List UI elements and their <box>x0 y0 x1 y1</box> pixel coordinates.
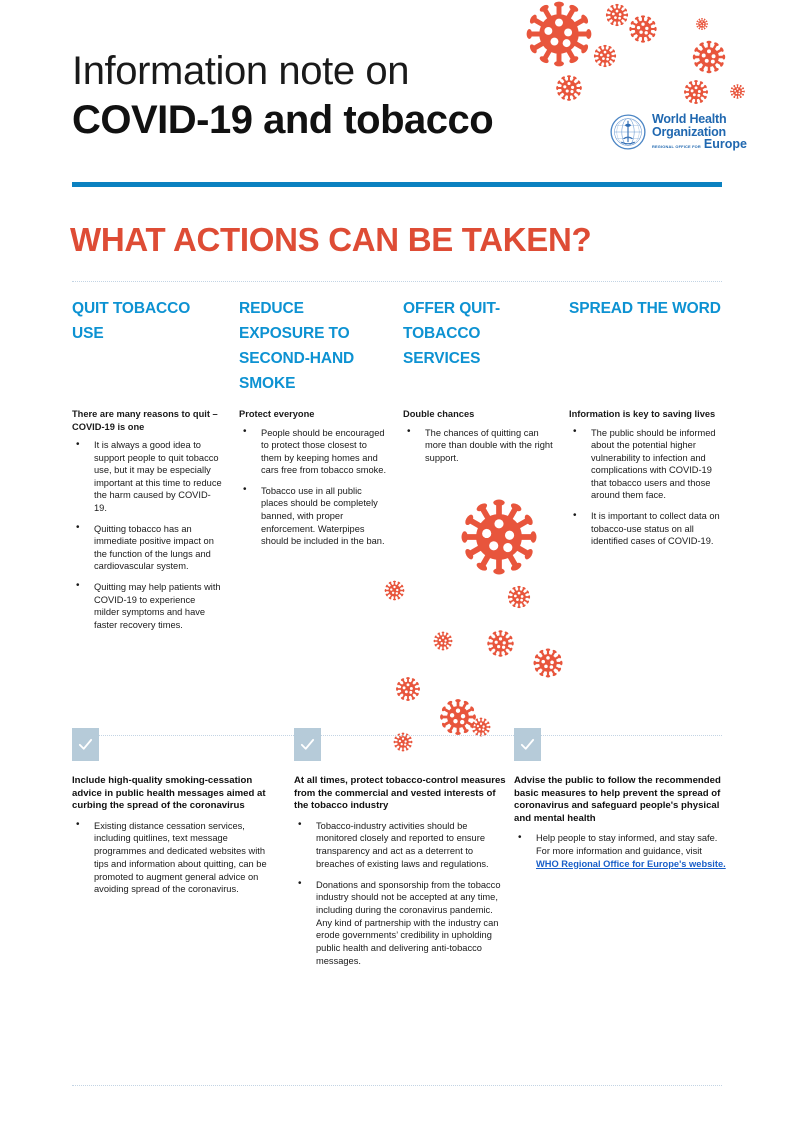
separator-top <box>72 281 722 282</box>
section-title: WHAT ACTIONS CAN BE TAKEN? <box>70 221 750 259</box>
coronavirus-icon <box>729 83 746 100</box>
who-emblem-icon <box>610 114 646 150</box>
coronavirus-icon <box>627 13 659 45</box>
action-column-4: SPREAD THE WORDInformation is key to sav… <box>569 296 721 556</box>
coronavirus-icon <box>455 493 543 581</box>
action-column-3: OFFER QUIT-TOBACCO SERVICESDouble chance… <box>403 296 553 472</box>
column-heading: REDUCE EXPOSURE TO SECOND-HAND SMOKE <box>239 296 389 396</box>
bullet-text: Help people to stay informed, and stay s… <box>536 833 717 856</box>
recommendation-bullet-list: Help people to stay informed, and stay s… <box>514 832 726 870</box>
action-column-2: REDUCE EXPOSURE TO SECOND-HAND SMOKEProt… <box>239 296 389 556</box>
column-bullet-list: The public should be informed about the … <box>569 427 721 548</box>
bullet-item: Quitting tobacco has an immediate positi… <box>72 523 222 573</box>
coronavirus-icon <box>506 584 532 610</box>
who-region-row: REGIONAL OFFICE FOR Europe <box>652 138 747 151</box>
coronavirus-icon <box>383 579 406 602</box>
coronavirus-icon <box>432 630 454 652</box>
column-bullet-list: It is always a good idea to support peop… <box>72 439 222 631</box>
title-underline-bar <box>72 182 722 187</box>
column-heading: QUIT TOBACCO USE <box>72 296 222 346</box>
column-subheading: Protect everyone <box>239 408 389 421</box>
column-subheading: There are many reasons to quit – COVID-1… <box>72 408 222 433</box>
page-header: Information note on COVID-19 and tobacco <box>72 48 722 144</box>
coronavirus-icon <box>604 2 630 28</box>
recommendation-block-3: Advise the public to follow the recommen… <box>514 728 726 878</box>
column-subheading: Information is key to saving lives <box>569 408 721 421</box>
who-europe-website-link[interactable]: WHO Regional Office for Europe's website… <box>536 859 726 869</box>
coronavirus-icon <box>485 628 516 659</box>
bullet-item: The chances of quitting can more than do… <box>403 427 553 465</box>
coronavirus-icon <box>695 17 709 31</box>
checkmark-icon <box>294 728 321 761</box>
bullet-item: People should be encouraged to protect t… <box>239 427 389 477</box>
recommendation-heading: Advise the public to follow the recommen… <box>514 775 726 825</box>
recommendation-block-2: At all times, protect tobacco-control me… <box>294 728 506 976</box>
recommendation-bullet-list: Existing distance cessation services, in… <box>72 820 277 896</box>
column-heading: SPREAD THE WORD <box>569 296 721 321</box>
who-logo: World Health Organization REGIONAL OFFIC… <box>610 106 735 158</box>
recommendation-heading: At all times, protect tobacco-control me… <box>294 775 506 813</box>
coronavirus-icon <box>394 675 422 703</box>
bullet-item: It is always a good idea to support peop… <box>72 439 222 515</box>
column-bullet-list: People should be encouraged to protect t… <box>239 427 389 548</box>
column-subheading: Double chances <box>403 408 553 421</box>
recommendation-bullet-list: Tobacco-industry activities should be mo… <box>294 820 506 968</box>
poster-page: Information note on COVID-19 and tobacco <box>0 0 794 1123</box>
column-bullet-list: The chances of quitting can more than do… <box>403 427 553 465</box>
bullet-item: Donations and sponsorship from the tobac… <box>294 879 506 968</box>
checkmark-icon <box>72 728 99 761</box>
bullet-item: Quitting may help patients with COVID-19… <box>72 581 222 631</box>
bullet-item: Tobacco-industry activities should be mo… <box>294 820 506 871</box>
column-heading: OFFER QUIT-TOBACCO SERVICES <box>403 296 553 371</box>
who-line1: World Health <box>652 113 747 126</box>
bullet-item: Help people to stay informed, and stay s… <box>514 832 726 870</box>
recommendation-heading: Include high-quality smoking-cessation a… <box>72 775 277 813</box>
separator-bottom <box>72 1085 722 1086</box>
bullet-item: It is important to collect data on tobac… <box>569 510 721 548</box>
recommendation-block-1: Include high-quality smoking-cessation a… <box>72 728 277 904</box>
action-column-1: QUIT TOBACCO USEThere are many reasons t… <box>72 296 222 639</box>
who-logo-text: World Health Organization REGIONAL OFFIC… <box>652 113 747 151</box>
bullet-item: The public should be informed about the … <box>569 427 721 503</box>
bullet-item: Existing distance cessation services, in… <box>72 820 277 896</box>
checkmark-icon <box>514 728 541 761</box>
coronavirus-icon <box>531 646 565 680</box>
page-title-line1: Information note on <box>72 48 722 94</box>
who-region: Europe <box>704 138 747 151</box>
who-regional-caption: REGIONAL OFFICE FOR <box>652 145 701 149</box>
bullet-item: Tobacco use in all public places should … <box>239 485 389 548</box>
